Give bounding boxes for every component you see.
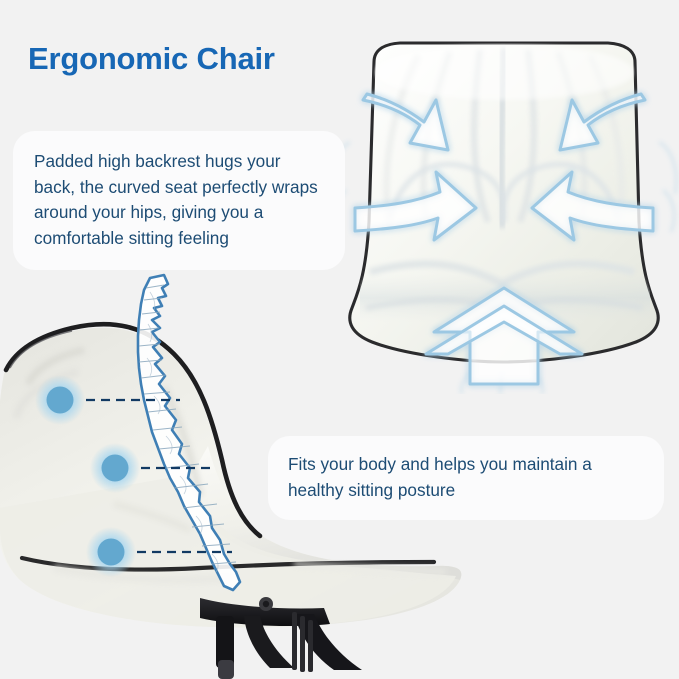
posture-description-text: Fits your body and helps you maintain a … — [288, 452, 644, 503]
support-point-lumbar — [86, 527, 232, 577]
support-point-markers — [0, 350, 300, 580]
support-point-mid-back — [90, 443, 210, 493]
support-point-upper-back — [35, 375, 180, 425]
posture-description-card: Fits your body and helps you maintain a … — [268, 436, 664, 520]
backrest-description-text: Padded high backrest hugs your back, the… — [34, 149, 325, 251]
markers-svg — [0, 350, 300, 580]
page-title: Ergonomic Chair — [28, 41, 275, 77]
backrest-description-card: Padded high backrest hugs your back, the… — [13, 131, 345, 270]
infographic-canvas: Ergonomic Chair Padded high backrest hug… — [0, 0, 679, 679]
